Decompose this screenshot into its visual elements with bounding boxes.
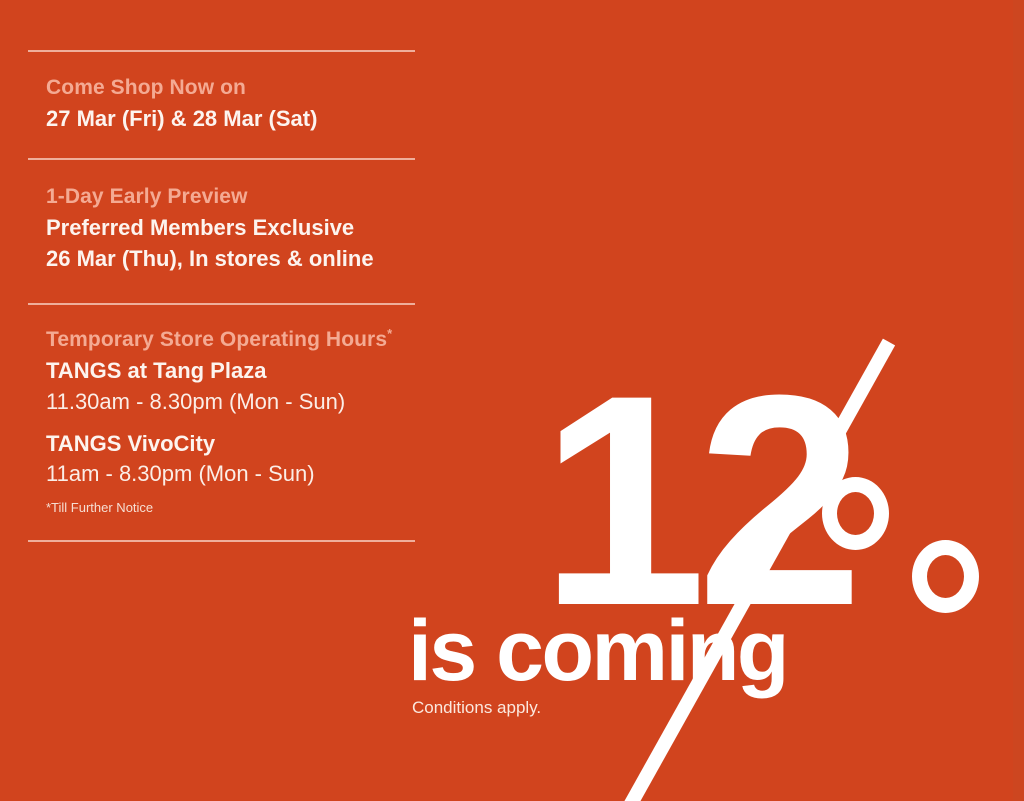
promo-graphic: 12 is coming Conditions apply.	[0, 0, 1024, 801]
percent-lower-circle-icon	[912, 540, 979, 613]
conditions-text: Conditions apply.	[412, 699, 541, 716]
promo-tagline: is coming	[408, 608, 787, 694]
promotional-poster: Come Shop Now on 27 Mar (Fri) & 28 Mar (…	[0, 0, 1024, 801]
percent-upper-circle-icon	[822, 477, 889, 550]
